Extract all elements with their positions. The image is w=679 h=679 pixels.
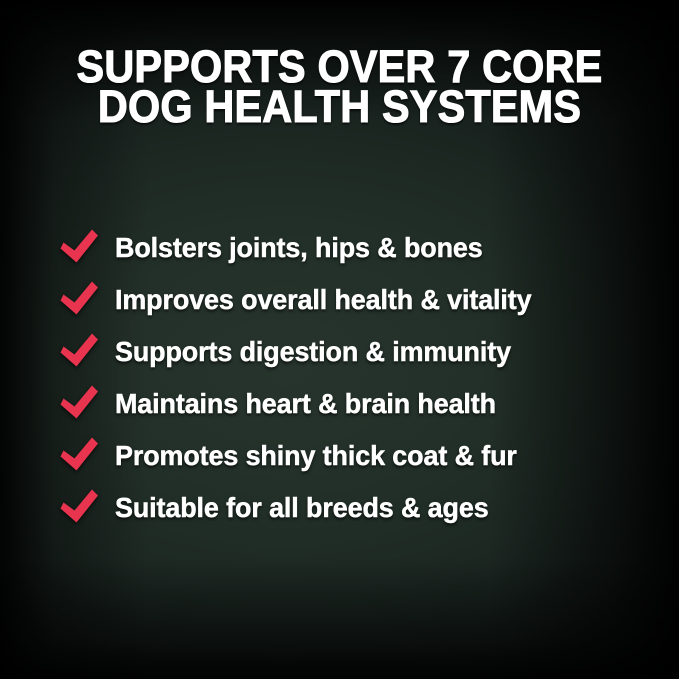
list-item-label: Promotes shiny thick coat & fur [115, 440, 517, 472]
check-icon [57, 384, 101, 424]
page-title-line-2: DOG HEALTH SYSTEMS [27, 87, 652, 127]
check-icon [57, 332, 101, 372]
list-item: Maintains heart & brain health [57, 378, 657, 430]
list-item: Promotes shiny thick coat & fur [57, 430, 657, 482]
list-item-label: Suitable for all breeds & ages [115, 492, 489, 524]
page-title: SUPPORTS OVER 7 CORE DOG HEALTH SYSTEMS [27, 47, 652, 127]
list-item-label: Improves overall health & vitality [115, 284, 532, 316]
benefits-list: Bolsters joints, hips & bones Improves o… [57, 222, 657, 534]
list-item-label: Supports digestion & immunity [115, 336, 511, 368]
content-area: SUPPORTS OVER 7 CORE DOG HEALTH SYSTEMS … [0, 0, 679, 679]
list-item: Bolsters joints, hips & bones [57, 222, 657, 274]
list-item: Suitable for all breeds & ages [57, 482, 657, 534]
list-item-label: Bolsters joints, hips & bones [115, 232, 483, 264]
product-benefits-graphic: SUPPORTS OVER 7 CORE DOG HEALTH SYSTEMS … [0, 0, 679, 679]
check-icon [57, 228, 101, 268]
list-item-label: Maintains heart & brain health [115, 388, 496, 420]
list-item: Improves overall health & vitality [57, 274, 657, 326]
check-icon [57, 488, 101, 528]
check-icon [57, 436, 101, 476]
check-icon [57, 280, 101, 320]
list-item: Supports digestion & immunity [57, 326, 657, 378]
